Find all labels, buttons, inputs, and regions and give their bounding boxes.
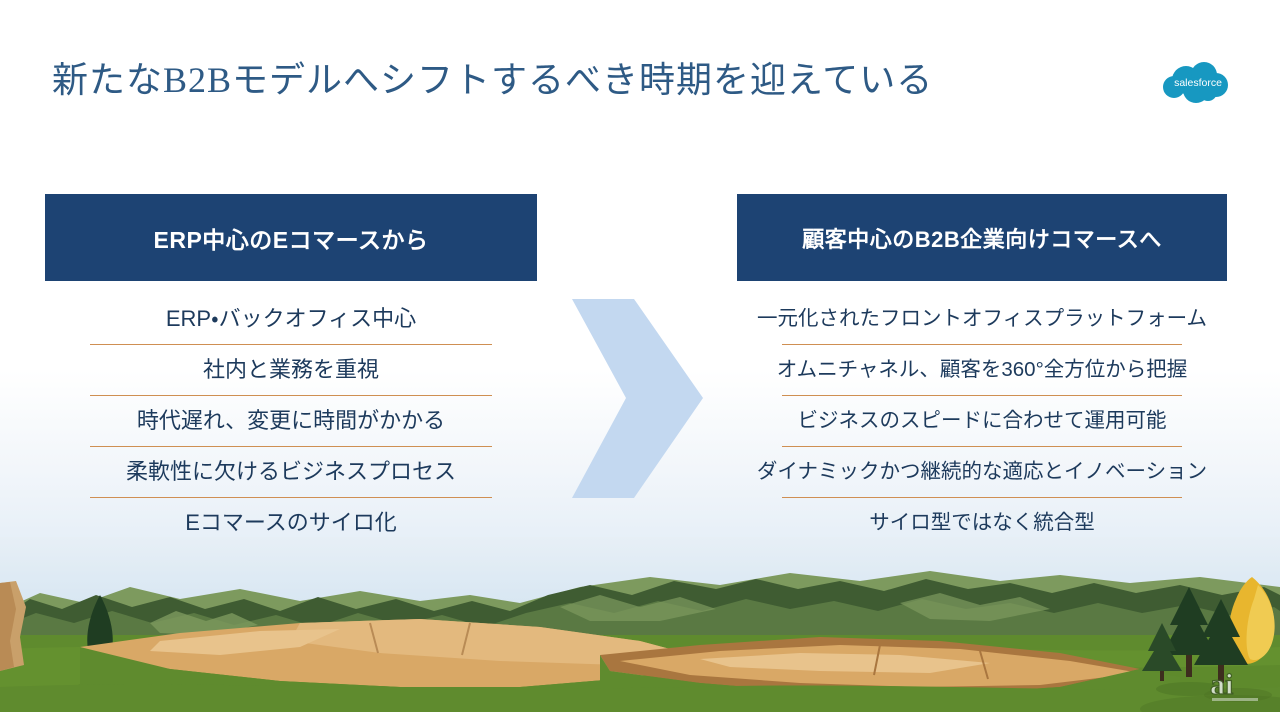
list-item: オムニチャネル、顧客を360°全方位から把握 (737, 345, 1227, 395)
landscape-illustration (0, 537, 1280, 712)
salesforce-wordmark: salesforce (1174, 77, 1222, 89)
list-item: ビジネスのスピードに合わせて運用可能 (737, 396, 1227, 446)
list-item: 社内と業務を重視 (45, 345, 537, 395)
right-column-list: 一元化されたフロントオフィスプラットフォーム オムニチャネル、顧客を360°全方… (737, 294, 1227, 548)
right-column-header: 顧客中心のB2B企業向けコマースへ (737, 194, 1227, 281)
ai-watermark-logo: ai (1206, 666, 1268, 706)
slide-canvas: 新たなB2Bモデルへシフトするべき時期を迎えている salesforce ERP… (0, 0, 1280, 712)
list-item: Eコマースのサイロ化 (45, 498, 537, 548)
right-column: 顧客中心のB2B企業向けコマースへ 一元化されたフロントオフィスプラットフォーム… (737, 194, 1227, 548)
left-column: ERP中心のEコマースから ERP・バックオフィス中心 社内と業務を重視 時代遅… (45, 194, 537, 548)
list-item: 時代遅れ、変更に時間がかかる (45, 396, 537, 446)
list-item: 一元化されたフロントオフィスプラットフォーム (737, 294, 1227, 344)
watermark-text: ai (1210, 668, 1233, 701)
list-item: 柔軟性に欠けるビジネスプロセス (45, 447, 537, 497)
left-column-header: ERP中心のEコマースから (45, 194, 537, 281)
list-item: サイロ型ではなく統合型 (737, 498, 1227, 548)
chevron-right-icon (570, 297, 705, 500)
left-column-list: ERP・バックオフィス中心 社内と業務を重視 時代遅れ、変更に時間がかかる 柔軟… (45, 294, 537, 548)
page-title: 新たなB2Bモデルへシフトするべき時期を迎えている (52, 58, 933, 102)
list-item: ERP・バックオフィス中心 (45, 294, 537, 344)
salesforce-cloud-logo: salesforce (1160, 58, 1236, 106)
list-item: ダイナミックかつ継続的な適応とイノベーション (737, 447, 1227, 497)
